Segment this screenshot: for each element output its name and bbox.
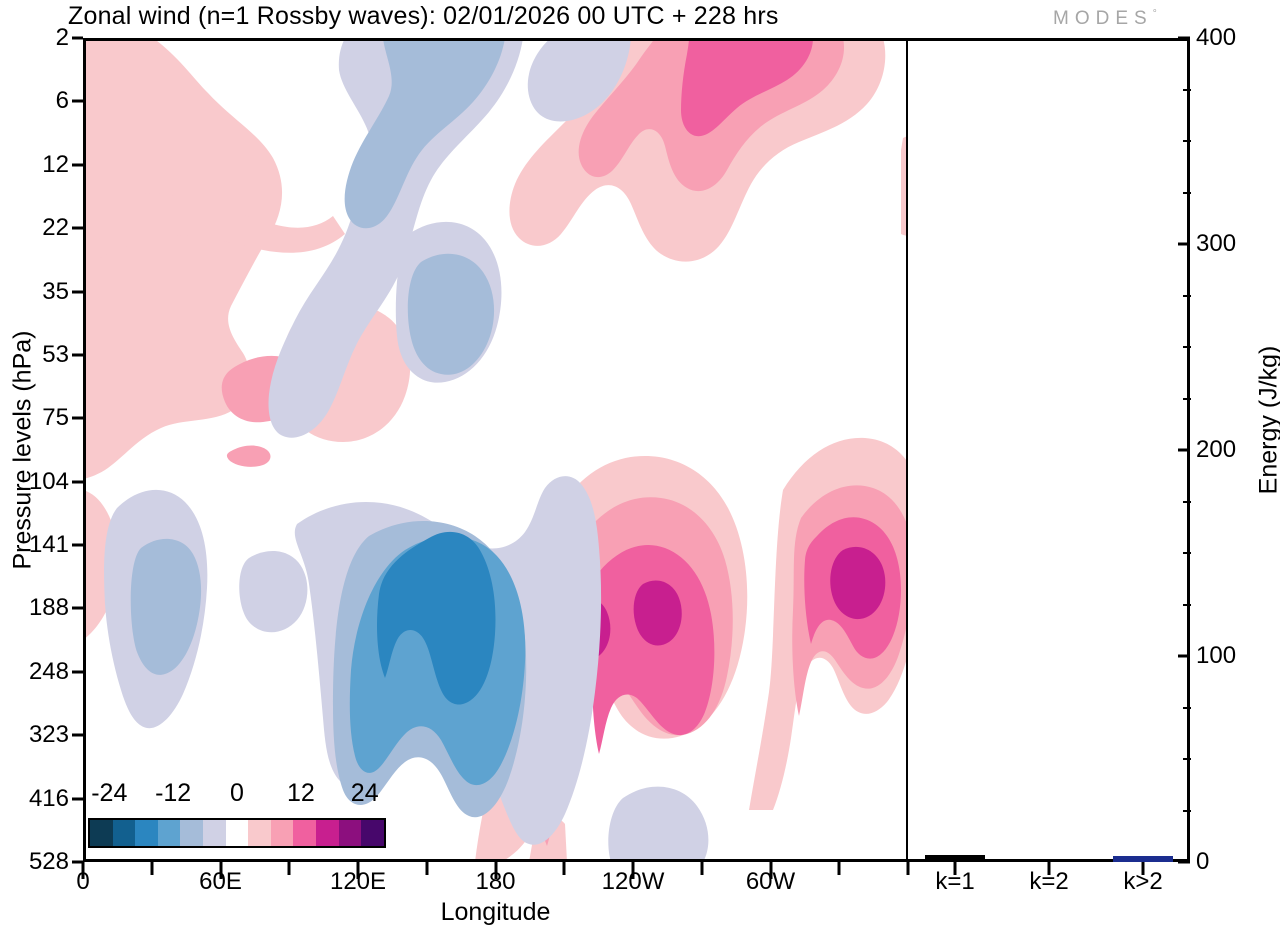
longitude-tick-mark <box>769 862 772 879</box>
pressure-tick-label: 323 <box>29 721 69 749</box>
colorbar-swatch <box>316 820 339 846</box>
pressure-tick-mark <box>72 670 83 673</box>
pressure-tick-mark <box>72 480 83 483</box>
pressure-tick-mark <box>72 353 83 356</box>
longitude-tick-mark <box>150 862 153 875</box>
pressure-tick-mark <box>72 290 83 293</box>
energy-tick-label: 300 <box>1196 230 1236 258</box>
pressure-tick-label: 75 <box>42 404 69 432</box>
energy-bar-tick <box>1142 862 1145 875</box>
modes-logo-text: MODES <box>1053 8 1153 29</box>
pressure-tick-mark <box>72 100 83 103</box>
pressure-tick-label: 2 <box>56 24 69 52</box>
energy-minor-tick <box>1183 295 1191 297</box>
energy-minor-tick <box>1183 604 1191 606</box>
pressure-tick-label: 528 <box>29 848 69 876</box>
colorbar-swatch <box>226 820 249 846</box>
longitude-tick-label: 120W <box>602 868 665 896</box>
energy-bar-panel <box>908 38 1190 862</box>
colorbar-swatch <box>248 820 271 846</box>
colorbar-swatch <box>135 820 158 846</box>
pressure-tick-label: 141 <box>29 531 69 559</box>
colorbar-swatch <box>203 820 226 846</box>
pressure-tick-mark <box>72 163 83 166</box>
energy-tick-mark <box>1178 37 1190 40</box>
pressure-axis: Pressure levels (hPa) 261222355375104141… <box>0 0 83 930</box>
contour-plot-area <box>83 38 908 862</box>
energy-minor-tick <box>1183 192 1191 194</box>
energy-minor-tick <box>1183 346 1191 348</box>
longitude-tick-label: 120E <box>330 868 386 896</box>
colorbar-label: 24 <box>351 779 379 808</box>
energy-minor-tick <box>1183 707 1191 709</box>
pressure-tick-mark <box>72 734 83 737</box>
colorbar-swatch <box>339 820 362 846</box>
pressure-tick-mark <box>72 607 83 610</box>
pressure-tick-mark <box>72 227 83 230</box>
longitude-tick-mark <box>494 862 497 879</box>
modes-logo-degree: ° <box>1153 9 1157 20</box>
energy-tick-mark <box>1178 449 1190 452</box>
energy-tick-mark <box>1178 655 1190 658</box>
colorbar-label: 12 <box>287 779 315 808</box>
pressure-tick-mark <box>72 797 83 800</box>
energy-tick-label: 0 <box>1196 848 1209 876</box>
colorbar-label: -24 <box>91 779 127 808</box>
pressure-axis-label: Pressure levels (hPa) <box>9 285 38 615</box>
energy-bar-tick <box>954 862 957 875</box>
longitude-tick-mark <box>632 862 635 879</box>
pressure-tick-label: 188 <box>29 594 69 622</box>
energy-minor-tick <box>1183 398 1191 400</box>
colorbar-swatch <box>113 820 136 846</box>
longitude-tick-label: 60W <box>746 868 795 896</box>
colorbar-swatch <box>293 820 316 846</box>
pressure-tick-label: 248 <box>29 658 69 686</box>
energy-minor-tick <box>1183 758 1191 760</box>
pressure-tick-label: 104 <box>29 468 69 496</box>
energy-tick-label: 100 <box>1196 642 1236 670</box>
longitude-axis-label: Longitude <box>83 898 908 927</box>
energy-bar <box>925 855 985 862</box>
contour-field <box>83 38 908 862</box>
pressure-tick-label: 12 <box>42 151 69 179</box>
pressure-tick-mark <box>72 417 83 420</box>
pressure-tick-mark <box>72 37 83 40</box>
longitude-tick-mark <box>357 862 360 879</box>
pressure-tick-label: 53 <box>42 341 69 369</box>
longitude-tick-mark <box>700 862 703 875</box>
longitude-tick-mark <box>907 862 910 875</box>
longitude-tick-mark <box>219 862 222 879</box>
energy-tick-mark <box>1178 861 1190 864</box>
energy-bar-tick <box>1048 862 1051 875</box>
pressure-tick-label: 6 <box>56 87 69 115</box>
longitude-tick-mark <box>288 862 291 875</box>
energy-tick-mark <box>1178 243 1190 246</box>
energy-minor-tick <box>1183 501 1191 503</box>
modes-logo: MODES° <box>1053 8 1157 30</box>
energy-minor-tick <box>1183 89 1191 91</box>
pressure-tick-label: 22 <box>42 214 69 242</box>
pressure-tick-mark <box>72 861 83 864</box>
energy-axis-label: Energy (J/kg) <box>1255 255 1280 585</box>
pressure-tick-mark <box>72 544 83 547</box>
colorbar-swatch <box>271 820 294 846</box>
chart-root: Zonal wind (n=1 Rossby waves): 02/01/202… <box>0 0 1280 930</box>
colorbar-label: -12 <box>155 779 191 808</box>
colorbar-swatch <box>90 820 113 846</box>
colorbar-swatch <box>158 820 181 846</box>
energy-tick-label: 200 <box>1196 436 1236 464</box>
colorbar <box>88 818 386 848</box>
longitude-tick-label: 60E <box>199 868 242 896</box>
colorbar-swatch <box>361 820 384 846</box>
energy-minor-tick <box>1183 810 1191 812</box>
energy-minor-tick <box>1183 552 1191 554</box>
energy-tick-label: 400 <box>1196 24 1236 52</box>
colorbar-label: 0 <box>230 779 244 808</box>
chart-title: Zonal wind (n=1 Rossby waves): 02/01/202… <box>68 2 779 31</box>
longitude-tick-mark <box>563 862 566 875</box>
pressure-tick-label: 416 <box>29 785 69 813</box>
longitude-tick-label: 180 <box>475 868 515 896</box>
longitude-tick-mark <box>838 862 841 875</box>
pressure-tick-label: 35 <box>42 278 69 306</box>
energy-minor-tick <box>1183 140 1191 142</box>
colorbar-swatch <box>180 820 203 846</box>
longitude-tick-mark <box>425 862 428 875</box>
